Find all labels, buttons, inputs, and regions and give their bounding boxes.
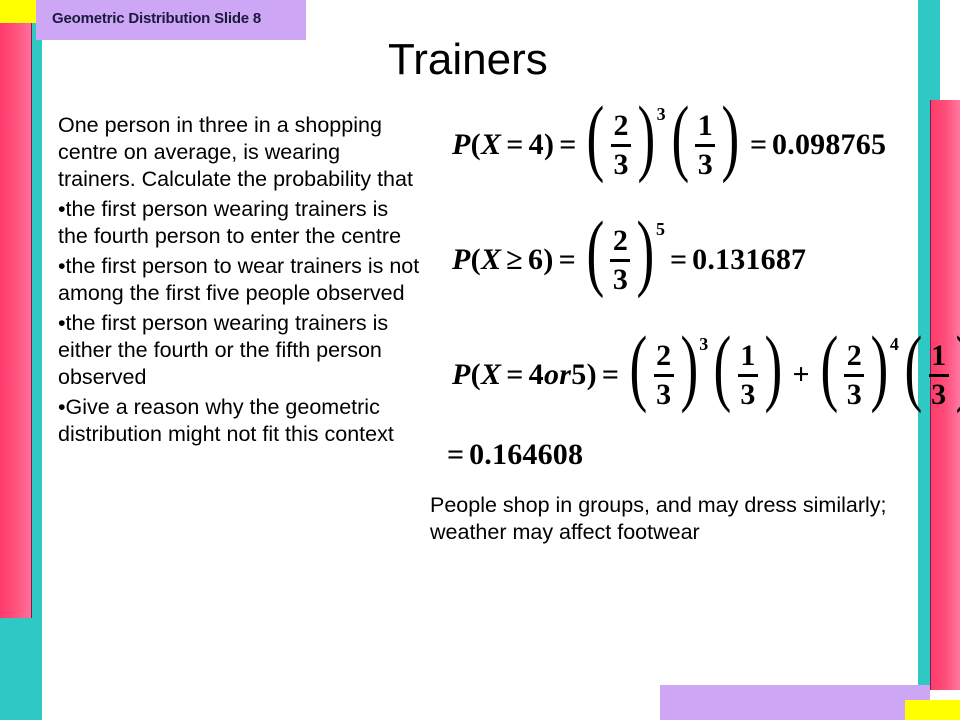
equation-3-term-2: ( 1 3 ) — [708, 334, 787, 415]
equation-3-term-4: ( 1 3 ) — [899, 334, 960, 415]
fraction-bar — [610, 259, 630, 262]
bottom-right-yellow-decoration — [905, 700, 960, 720]
fraction: 2 3 — [653, 334, 675, 415]
bullet-item: the first person wearing trainers is the… — [58, 196, 420, 250]
left-paren-glyph: ( — [671, 101, 689, 172]
fraction-bar — [695, 144, 715, 147]
equation-1: P(X=4) = ( 2 3 ) 3 ( 1 3 ) = 0.098765 — [452, 104, 886, 185]
left-pink-decoration — [0, 22, 32, 618]
fraction-bar — [929, 374, 949, 377]
equation-3-lhs: P(X=4or5) — [452, 358, 597, 392]
equation-1-term-1: ( 2 3 ) 3 — [581, 104, 665, 185]
intro-paragraph: One person in three in a shopping centre… — [58, 112, 420, 193]
page-title: Trainers — [388, 38, 548, 82]
fraction-bar — [654, 374, 674, 377]
equation-3-result-equals: = — [442, 438, 469, 472]
equation-2-lhs: P(X≥6) — [452, 243, 554, 277]
equation-3-equals: = — [597, 358, 624, 392]
body-text-block: One person in three in a shopping centre… — [58, 112, 420, 451]
equation-3-result: 0.164608 — [469, 438, 583, 472]
equation-3-term-3: ( 2 3 ) 4 — [815, 334, 899, 415]
footer-purple-band — [660, 685, 930, 720]
right-paren-glyph: ) — [680, 331, 698, 402]
exponent: 5 — [656, 220, 665, 238]
bullet-item: the first person wearing trainers is eit… — [58, 310, 420, 391]
right-paren-glyph: ) — [722, 101, 740, 172]
fraction: 2 3 — [843, 334, 865, 415]
equation-3-term-1: ( 2 3 ) 3 — [624, 334, 708, 415]
fraction: 1 3 — [928, 334, 950, 415]
exponent: 4 — [890, 335, 899, 353]
slide-header-label: Geometric Distribution Slide 8 — [52, 10, 261, 27]
equation-3: P(X=4or5) = ( 2 3 ) 3 ( 1 3 ) + ( 2 — [452, 334, 960, 415]
exponent: 3 — [657, 105, 666, 123]
fraction-bar — [738, 374, 758, 377]
right-paren-glyph: ) — [955, 331, 960, 402]
equation-2-term-1: ( 2 3 ) 5 — [581, 219, 665, 300]
fraction-bar — [611, 144, 631, 147]
right-paren-glyph: ) — [637, 216, 655, 287]
left-paren-glyph: ( — [714, 331, 732, 402]
fraction: 2 3 — [610, 104, 632, 185]
equation-3-result-line: = 0.164608 — [442, 438, 583, 472]
fraction: 1 3 — [737, 334, 759, 415]
left-paren-glyph: ( — [820, 331, 838, 402]
right-paren-glyph: ) — [764, 331, 782, 402]
equation-1-term-2: ( 1 3 ) — [666, 104, 745, 185]
top-left-yellow-decoration — [0, 0, 36, 23]
left-paren-glyph: ( — [587, 101, 605, 172]
closing-note: People shop in groups, and may dress sim… — [430, 492, 920, 547]
equation-3-plus: + — [788, 358, 815, 392]
equation-1-equals: = — [554, 128, 581, 162]
bullet-item: the first person to wear trainers is not… — [58, 253, 420, 307]
equation-2: P(X≥6) = ( 2 3 ) 5 = 0.131687 — [452, 219, 806, 300]
bullet-item: Give a reason why the geometric distribu… — [58, 394, 420, 448]
equation-2-result: 0.131687 — [692, 243, 806, 277]
slide-canvas: Geometric Distribution Slide 8 Trainers … — [0, 0, 960, 720]
equation-1-result-equals: = — [745, 128, 772, 162]
equation-2-equals: = — [554, 243, 581, 277]
left-paren-glyph: ( — [904, 331, 922, 402]
right-paren-glyph: ) — [637, 101, 655, 172]
fraction-bar — [844, 374, 864, 377]
right-paren-glyph: ) — [871, 331, 889, 402]
fraction: 1 3 — [694, 104, 716, 185]
equation-1-lhs: P(X=4) — [452, 128, 554, 162]
fraction: 2 3 — [609, 219, 631, 300]
left-paren-glyph: ( — [629, 331, 647, 402]
equation-2-result-equals: = — [665, 243, 692, 277]
left-paren-glyph: ( — [586, 216, 604, 287]
exponent: 3 — [699, 335, 708, 353]
equation-1-result: 0.098765 — [772, 128, 886, 162]
